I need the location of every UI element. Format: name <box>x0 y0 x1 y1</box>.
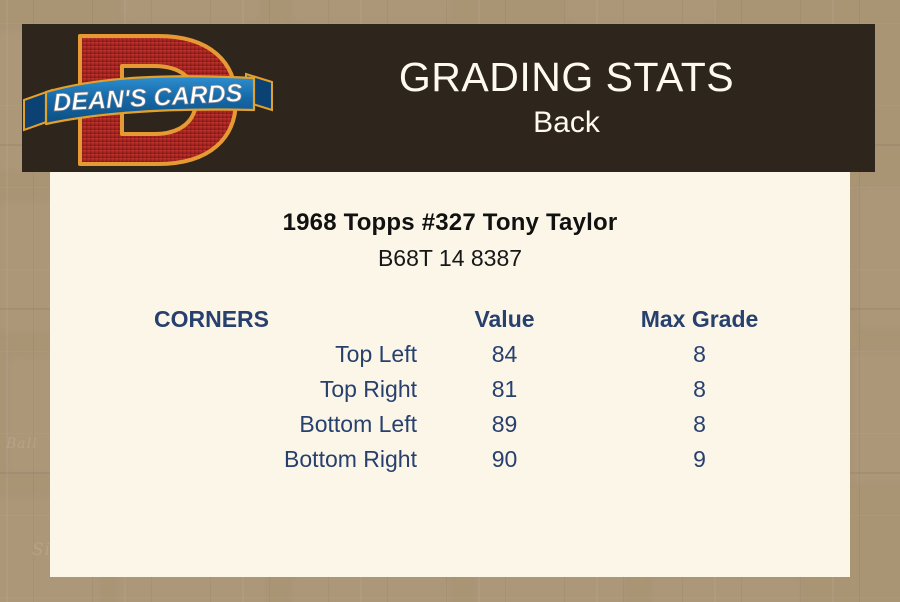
page-title: GRADING STATS <box>284 52 849 102</box>
table-row: Bottom Left 89 8 <box>152 407 807 442</box>
row-max-grade: 9 <box>592 442 807 477</box>
background-card-tile <box>854 182 900 334</box>
background-card-tile <box>560 0 720 24</box>
card-subtitle: B68T 14 8387 <box>50 245 850 272</box>
content-panel: 1968 Topps #327 Tony Taylor B68T 14 8387… <box>50 172 850 577</box>
column-header-max-grade: Max Grade <box>592 302 807 337</box>
deans-cards-logo[interactable]: DEAN'S CARDS <box>22 24 284 172</box>
row-value: 84 <box>417 337 592 372</box>
row-label: Top Left <box>152 337 417 372</box>
logo-banner-icon: DEAN'S CARDS <box>22 72 274 134</box>
page-subtitle: Back <box>284 102 849 144</box>
background-signature-mark: Ball <box>6 436 38 452</box>
row-max-grade: 8 <box>592 407 807 442</box>
background-card-tile <box>116 0 266 24</box>
row-value: 89 <box>417 407 592 442</box>
row-label: Bottom Left <box>152 407 417 442</box>
row-max-grade: 8 <box>592 372 807 407</box>
row-value: 90 <box>417 442 592 477</box>
header-title-group: GRADING STATS Back <box>284 52 875 144</box>
column-header-value: Value <box>417 302 592 337</box>
row-label: Bottom Right <box>152 442 417 477</box>
table-row: Bottom Right 90 9 <box>152 442 807 477</box>
table-row: Top Left 84 8 <box>152 337 807 372</box>
page-root: Sincere Ball <box>0 0 900 602</box>
background-card-tile <box>286 0 456 24</box>
background-card-tile <box>848 348 900 488</box>
row-value: 81 <box>417 372 592 407</box>
card-title: 1968 Topps #327 Tony Taylor <box>50 209 850 237</box>
table-row: Top Right 81 8 <box>152 372 807 407</box>
row-max-grade: 8 <box>592 337 807 372</box>
row-label: Top Right <box>152 372 417 407</box>
grading-stats-table: CORNERS Value Max Grade Top Left 84 8 To… <box>152 302 807 477</box>
header-bar: DEAN'S CARDS GRADING STATS Back <box>22 24 875 172</box>
table-header-row: CORNERS Value Max Grade <box>152 302 807 337</box>
table-section-label: CORNERS <box>152 302 417 337</box>
